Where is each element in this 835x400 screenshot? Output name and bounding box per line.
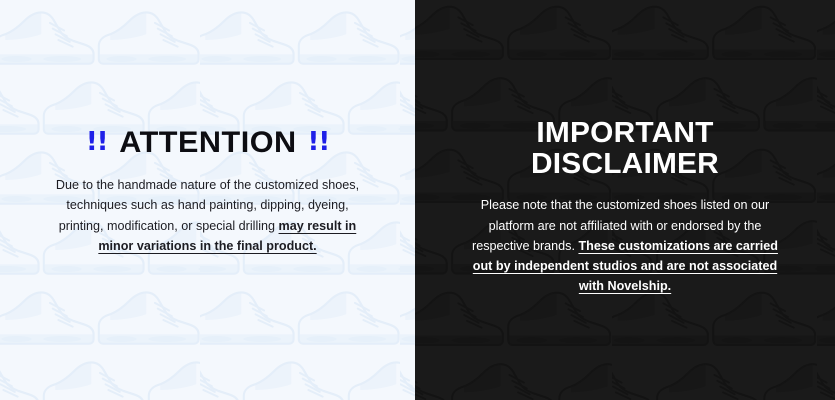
disclaimer-heading-line-1: IMPORTANT [455,118,795,149]
disclaimer-panel: IMPORTANT DISCLAIMER Please note that th… [415,0,835,400]
double-exclamation-icon-left: !! [86,129,108,155]
disclaimer-heading-line-2: DISCLAIMER [455,149,795,180]
disclaimer-body-text: Please note that the customized shoes li… [460,195,790,296]
attention-content: !! ATTENTION !! Due to the handmade natu… [38,128,378,257]
attention-heading-word: ATTENTION [119,128,296,158]
attention-panel: !! ATTENTION !! Due to the handmade natu… [0,0,415,400]
attention-body-text: Due to the handmade nature of the custom… [38,175,378,257]
double-exclamation-icon-right: !! [307,129,329,155]
attention-heading: !! ATTENTION !! [38,128,378,158]
disclaimer-heading: IMPORTANT DISCLAIMER [455,118,795,179]
disclaimer-content: IMPORTANT DISCLAIMER Please note that th… [460,118,790,296]
dual-disclaimer-banner: !! ATTENTION !! Due to the handmade natu… [0,0,835,400]
